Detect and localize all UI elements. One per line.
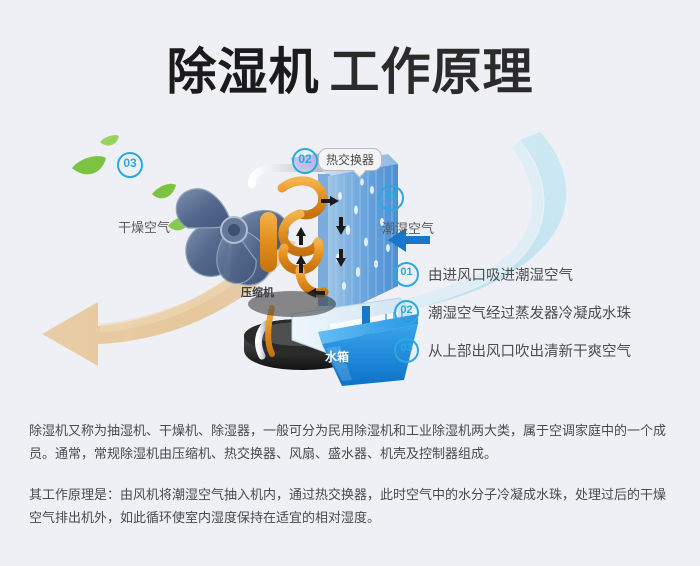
legend-item-02: 02 潮湿空气经过蒸发器冷凝成水珠	[394, 293, 694, 331]
dry-air-label: 干燥空气	[118, 217, 170, 236]
title-part-1: 除湿机	[167, 43, 320, 101]
title-part-2: 工作原理	[330, 43, 534, 101]
poster-root: 除湿机工作原理	[0, 0, 700, 566]
leaf-icon	[152, 184, 176, 199]
page-title: 除湿机工作原理	[0, 32, 700, 104]
legend-list: 01 由进风口吸进潮湿空气 02 潮湿空气经过蒸发器冷凝成水珠 03 从上部出风…	[394, 255, 694, 369]
humid-air-badge: 01	[378, 185, 404, 211]
paragraph-2: 其工作原理是：由风机将潮湿空气抽入机内，通过热交换器，此时空气中的水分子冷凝成水…	[29, 484, 675, 530]
heat-exchanger-callout: 热交换器	[318, 148, 382, 171]
compressor-label: 压缩机	[241, 284, 274, 300]
humid-air-label: 潮湿空气	[382, 218, 434, 237]
leaf-icon	[72, 156, 106, 174]
legend-badge-02: 02	[394, 300, 419, 325]
legend-badge-01: 01	[394, 262, 419, 287]
legend-text-02: 潮湿空气经过蒸发器冷凝成水珠	[428, 302, 631, 323]
dry-air-badge: 03	[117, 152, 143, 178]
paragraph-1: 除湿机又称为抽湿机、干燥机、除湿器，一般可分为民用除湿机和工业除湿机两大类，属于…	[29, 420, 675, 466]
heat-exchanger-badge: 02	[292, 148, 318, 174]
legend-text-01: 由进风口吸进潮湿空气	[428, 264, 573, 285]
description-block: 除湿机又称为抽湿机、干燥机、除湿器，一般可分为民用除湿机和工业除湿机两大类，属于…	[29, 420, 675, 530]
legend-text-03: 从上部出风口吹出清新干爽空气	[428, 340, 631, 361]
water-tank-label: 水箱	[325, 348, 349, 365]
leaf-icon	[100, 135, 119, 145]
legend-item-01: 01 由进风口吸进潮湿空气	[394, 255, 694, 293]
accumulator-cylinder	[260, 212, 277, 272]
legend-item-03: 03 从上部出风口吹出清新干爽空气	[394, 331, 694, 369]
legend-badge-03: 03	[394, 338, 419, 363]
